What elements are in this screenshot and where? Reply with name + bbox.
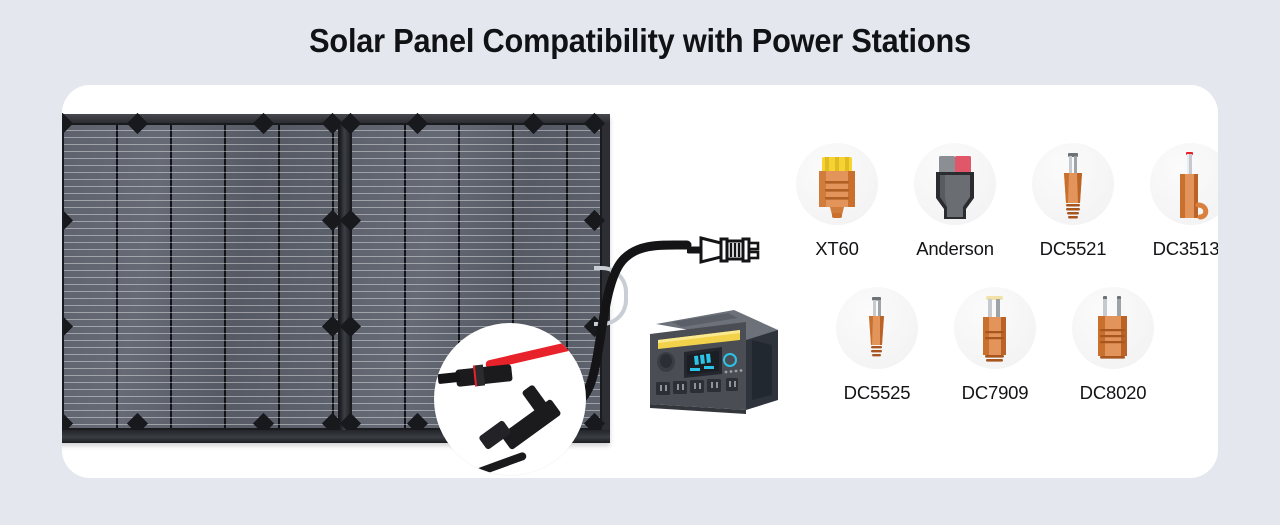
adapter-row-bottom: DC5525 DC79 <box>818 287 1172 404</box>
anderson-connector-icon <box>914 143 996 225</box>
adapter-disc <box>1072 287 1154 369</box>
cable-end-plug-icon <box>687 230 767 270</box>
adapter-label: XT60 <box>815 238 858 260</box>
mc4-connector-closeup <box>434 323 586 475</box>
mc4-male-ring <box>473 365 485 387</box>
portable-power-station <box>642 300 782 420</box>
adapter-disc <box>954 287 1036 369</box>
xt60-connector-icon <box>796 143 878 225</box>
adapter-label: DC5525 <box>844 382 911 404</box>
adapter-item-dc5521[interactable]: DC5521 <box>1014 143 1132 260</box>
content-card: XT60 Anderson <box>62 85 1218 478</box>
adapter-item-anderson[interactable]: Anderson <box>896 143 1014 260</box>
adapter-item-dc5525[interactable]: DC5525 <box>818 287 936 404</box>
adapter-item-dc7909[interactable]: DC7909 <box>936 287 1054 404</box>
dc7909-connector-icon <box>954 287 1036 369</box>
dc5521-connector-icon <box>1032 143 1114 225</box>
page-title: Solar Panel Compatibility with Power Sta… <box>45 22 1235 60</box>
adapter-disc <box>796 143 878 225</box>
adapter-item-dc35135[interactable]: DC35135 <box>1132 143 1218 260</box>
adapter-row-top: XT60 Anderson <box>778 143 1218 260</box>
adapter-disc <box>1150 143 1218 225</box>
adapter-disc <box>914 143 996 225</box>
dc8020-connector-icon <box>1072 287 1154 369</box>
adapter-label: DC7909 <box>962 382 1029 404</box>
adapter-disc <box>836 287 918 369</box>
adapter-label: DC35135 <box>1153 238 1218 260</box>
solar-panel-section-left <box>62 123 340 430</box>
adapter-item-dc8020[interactable]: DC8020 <box>1054 287 1172 404</box>
mc4-black-cable <box>451 451 527 475</box>
solar-panel-hinge <box>340 123 350 430</box>
dc5525-connector-icon <box>836 287 918 369</box>
solar-panel-carry-handle <box>594 266 628 326</box>
mc4-female-barrel <box>478 420 512 451</box>
adapter-label: DC8020 <box>1080 382 1147 404</box>
dc35135-connector-icon <box>1150 143 1218 225</box>
adapter-disc <box>1032 143 1114 225</box>
adapter-item-xt60[interactable]: XT60 <box>778 143 896 260</box>
adapter-label: DC5521 <box>1040 238 1107 260</box>
adapter-label: Anderson <box>916 238 994 260</box>
